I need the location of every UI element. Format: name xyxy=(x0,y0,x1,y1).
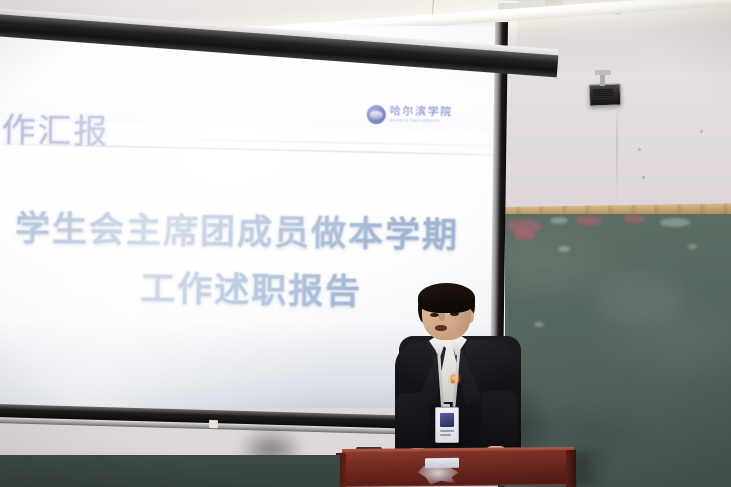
pink-chalk-residue xyxy=(576,216,602,225)
presenter-hair xyxy=(418,283,475,313)
speaker-mount-bracket xyxy=(600,74,605,86)
speaker-grille xyxy=(593,89,613,100)
podium-paper-label xyxy=(425,458,459,469)
slide-header-kicker: 工作汇报 xyxy=(0,102,110,154)
pink-chalk-residue xyxy=(624,215,644,223)
university-logo: 哈尔滨学院 HARBIN UNIVERSITY xyxy=(367,102,477,128)
presenter-mouth xyxy=(435,325,447,331)
presenter-eye-left xyxy=(430,313,439,317)
lower-wall-dark-area xyxy=(0,455,340,487)
university-name-en: HARBIN UNIVERSITY xyxy=(390,119,453,124)
white-chalk-smudge xyxy=(550,217,568,224)
wall-seam xyxy=(616,106,618,206)
presentation-photo-scene: 工作汇报 哈尔滨学院 HARBIN UNIVERSITY 学生会主席团成员做本学… xyxy=(0,0,731,487)
presenter-nose xyxy=(439,312,445,321)
podium-cast-shadow xyxy=(574,452,608,487)
badge-text-line xyxy=(440,434,451,436)
university-seal-icon xyxy=(367,104,386,123)
white-chalk-smudge xyxy=(534,322,544,327)
university-name-cn: 哈尔滨学院 xyxy=(390,106,453,118)
presenter xyxy=(389,283,529,463)
lectern xyxy=(342,450,574,487)
badge-text-line xyxy=(440,430,454,432)
wall-fixing-dot xyxy=(638,148,641,151)
id-badge xyxy=(435,407,459,443)
white-chalk-smudge xyxy=(688,244,697,249)
speaker-mount-plate xyxy=(595,70,611,75)
screen-center-weight xyxy=(209,420,218,428)
wall-fixing-dot xyxy=(700,130,703,133)
chalkboard-haze xyxy=(594,272,684,324)
wall-fixing-dot xyxy=(642,176,645,179)
pink-chalk-residue xyxy=(514,230,536,240)
slide-header-rule-secondary xyxy=(120,138,505,146)
slide-title-line-1: 学生会主席团成员做本学期 xyxy=(0,200,505,259)
white-chalk-smudge xyxy=(558,246,570,252)
university-logo-text: 哈尔滨学院 HARBIN UNIVERSITY xyxy=(390,106,453,124)
white-chalk-smudge xyxy=(660,218,690,227)
podium-right-side xyxy=(566,450,576,487)
badge-photo xyxy=(440,413,454,427)
